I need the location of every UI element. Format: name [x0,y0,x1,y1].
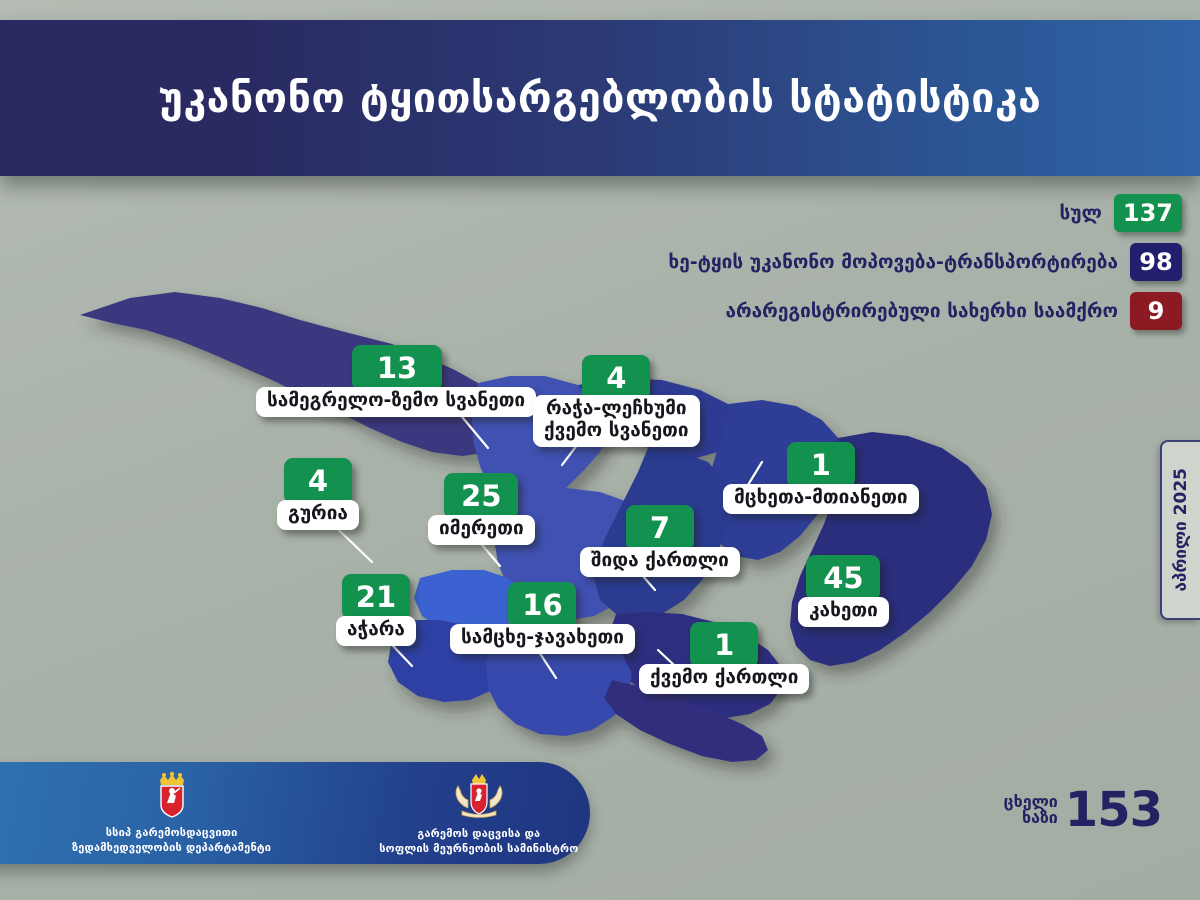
region-callout-guria[interactable]: 4 გურია [277,458,359,530]
region-callout-achara[interactable]: 21 აჭარა [336,574,416,646]
region-callout-kakheti[interactable]: 45 კახეთი [798,555,889,627]
region-count-kvemo-kartli: 1 [690,622,758,668]
region-callout-racha-lechkhumi-kvemo-svaneti[interactable]: 4 რაჭა-ლეჩხუმი ქვემო სვანეთი [533,355,700,447]
hotline-block: ცხელი ხაზი 153 [1004,788,1162,832]
region-label-mtskheta-mtianeti: მცხეთა-მთიანეთი [723,484,919,514]
map-svg [0,180,1200,800]
ministry-coat-of-arms-icon [450,770,508,820]
region-callout-shida-kartli[interactable]: 7 შიდა ქართლი [580,505,740,577]
region-label-guria: გურია [277,500,359,530]
region-label-shida-kartli: შიდა ქართლი [580,547,740,577]
region-callout-kvemo-kartli[interactable]: 1 ქვემო ქართლი [639,622,809,694]
region-count-mtskheta-mtianeti: 1 [787,442,855,488]
date-tab-label: აპრილი 2025 [1171,468,1191,591]
region-count-achara: 21 [342,574,410,620]
region-count-guria: 4 [284,458,352,504]
region-label-samtskhe-javakheti: სამცხე-ჯავახეთი [450,624,635,654]
region-label-samegrelo-zemo-svaneti: სამეგრელო-ზემო სვანეთი [256,387,536,417]
region-count-samegrelo-zemo-svaneti: 13 [352,345,442,391]
department-crest-icon [150,771,194,819]
region-label-kvemo-kartli: ქვემო ქართლი [639,664,809,694]
region-label-imereti: იმერეთი [428,515,535,545]
georgia-map: 13 სამეგრელო-ზემო სვანეთი 4 რაჭა-ლეჩხუმი… [0,180,1200,800]
hotline-number: 153 [1065,788,1162,832]
region-label-kakheti: კახეთი [798,597,889,627]
date-tab: აპრილი 2025 [1160,440,1200,620]
header-banner: უკანონო ტყითსარგებლობის სტატისტიკა [0,20,1200,176]
region-label-racha-lechkhumi-kvemo-svaneti: რაჭა-ლეჩხუმი ქვემო სვანეთი [533,395,700,447]
region-count-shida-kartli: 7 [626,505,694,551]
region-count-kakheti: 45 [806,555,880,601]
page-title: უკანონო ტყითსარგებლობის სტატისტიკა [159,74,1042,122]
org-label-ministry: გარემოს დაცვისა და სოფლის მეურნეობის სამ… [379,827,578,857]
region-callout-samtskhe-javakheti[interactable]: 16 სამცხე-ჯავახეთი [450,582,635,654]
region-callout-mtskheta-mtianeti[interactable]: 1 მცხეთა-მთიანეთი [723,442,919,514]
region-count-samtskhe-javakheti: 16 [508,582,576,628]
footer-bar: სსიპ გარემოსდაცვითი ზედამხედველობის დეპა… [0,762,590,864]
org-label-department: სსიპ გარემოსდაცვითი ზედამხედველობის დეპა… [72,826,271,856]
hotline-label: ცხელი ხაზი [1004,794,1058,826]
region-count-imereti: 25 [444,473,518,519]
region-callout-samegrelo-zemo-svaneti[interactable]: 13 სამეგრელო-ზემო სვანეთი [256,345,536,417]
infographic-page: უკანონო ტყითსარგებლობის სტატისტიკა სულ 1… [0,0,1200,900]
org-block-department: სსიპ გარემოსდაცვითი ზედამხედველობის დეპა… [72,771,271,856]
region-label-achara: აჭარა [336,616,416,646]
org-block-ministry: გარემოს დაცვისა და სოფლის მეურნეობის სამ… [379,770,578,857]
region-callout-imereti[interactable]: 25 იმერეთი [428,473,535,545]
